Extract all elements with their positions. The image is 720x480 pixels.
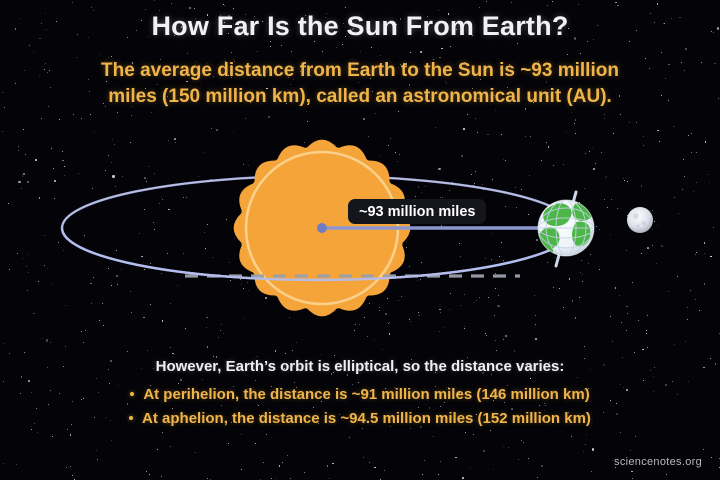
watermark: sciencenotes.org <box>614 456 702 468</box>
infographic-canvas: How Far Is the Sun From Earth? The avera… <box>0 0 720 480</box>
list-item: At aphelion, the distance is ~94.5 milli… <box>0 406 720 430</box>
bullet-text-aphelion: At aphelion, the distance is ~94.5 milli… <box>142 410 591 427</box>
page-title: How Far Is the Sun From Earth? <box>0 11 720 42</box>
list-item: At perihelion, the distance is ~91 milli… <box>0 382 720 406</box>
distance-callout-label: ~93 million miles <box>348 199 486 224</box>
moon-sphere <box>627 207 653 233</box>
footer-bullet-list: At perihelion, the distance is ~91 milli… <box>0 382 720 430</box>
distance-callout-text: ~93 million miles <box>359 204 475 220</box>
bullet-dot-icon <box>129 416 133 420</box>
subtitle-block: The average distance from Earth to the S… <box>46 58 674 110</box>
bullet-text-perihelion: At perihelion, the distance is ~91 milli… <box>143 386 589 403</box>
footer-intro-text: However, Earth’s orbit is elliptical, so… <box>0 358 720 375</box>
bullet-dot-icon <box>130 392 134 396</box>
subtitle-line-1: The average distance from Earth to the S… <box>46 58 674 84</box>
subtitle-line-2: miles (150 million km), called an astron… <box>46 84 674 110</box>
distance-line-start-dot <box>317 223 327 233</box>
